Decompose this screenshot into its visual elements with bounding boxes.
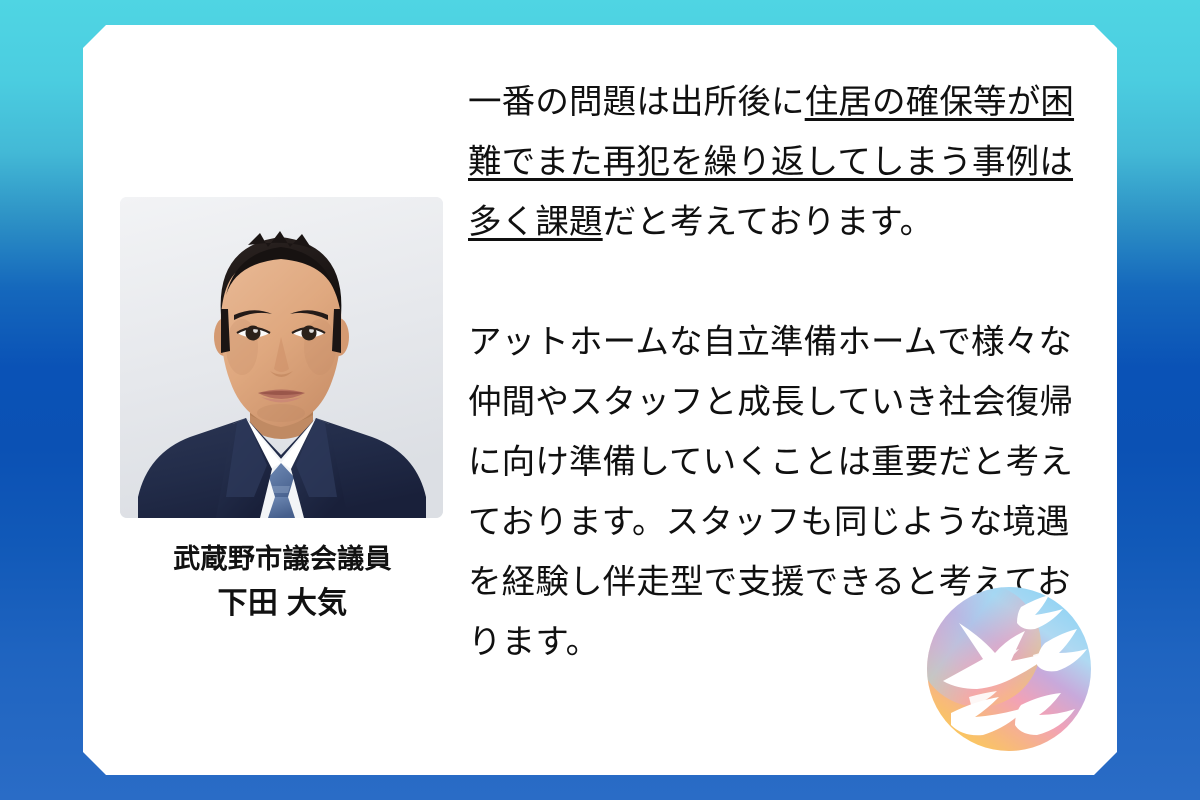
page-background: 武蔵野市議会議員 下田 大気 一番の問題は出所後に住居の確保等が困難でまた再犯を…: [0, 0, 1200, 800]
text-run-2: だと考えております。: [603, 204, 934, 241]
content-card: 武蔵野市議会議員 下田 大気 一番の問題は出所後に住居の確保等が困難でまた再犯を…: [83, 25, 1117, 775]
profile-name: 下田 大気: [120, 583, 445, 626]
paragraph-1: 一番の問題は出所後に住居の確保等が困難でまた再犯を繰り返してしまう事例は多く課題…: [468, 73, 1078, 253]
text-run-0: 一番の問題は出所後に: [468, 84, 805, 121]
quote-body: 一番の問題は出所後に住居の確保等が困難でまた再犯を繰り返してしまう事例は多く課題…: [468, 73, 1078, 673]
profile-title: 武蔵野市議会議員: [120, 540, 445, 578]
profile-block: 武蔵野市議会議員 下田 大気: [120, 197, 445, 626]
profile-caption: 武蔵野市議会議員 下田 大気: [120, 540, 445, 626]
flying-birds-circle-logo: [925, 585, 1093, 753]
profile-photo: [120, 197, 443, 518]
